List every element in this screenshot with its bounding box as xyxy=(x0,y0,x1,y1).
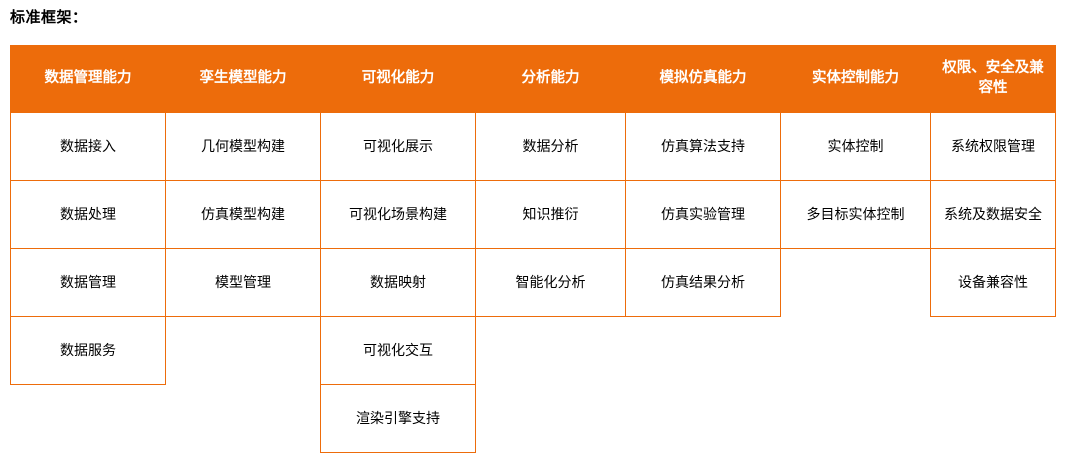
cell-simulation-3: 仿真结果分析 xyxy=(626,249,781,317)
column-header-simulation: 模拟仿真能力 xyxy=(626,46,781,113)
cell-data-management-5-empty xyxy=(11,385,166,453)
column-header-visualization: 可视化能力 xyxy=(321,46,476,113)
cell-analysis-4-empty xyxy=(476,317,626,385)
cell-simulation-1: 仿真算法支持 xyxy=(626,113,781,181)
cell-permission-security-4-empty xyxy=(931,317,1056,385)
cell-analysis-5-empty xyxy=(476,385,626,453)
cell-twin-model-2: 仿真模型构建 xyxy=(166,181,321,249)
column-header-data-management: 数据管理能力 xyxy=(11,46,166,113)
cell-twin-model-1: 几何模型构建 xyxy=(166,113,321,181)
cell-visualization-2: 可视化场景构建 xyxy=(321,181,476,249)
cell-data-management-4: 数据服务 xyxy=(11,317,166,385)
capability-matrix-table: 数据管理能力 孪生模型能力 可视化能力 分析能力 模拟仿真能力 实体控制能力 权… xyxy=(10,45,1056,453)
table-row: 渲染引擎支持 xyxy=(11,385,1056,453)
cell-data-management-1: 数据接入 xyxy=(11,113,166,181)
table-row: 数据管理 模型管理 数据映射 智能化分析 仿真结果分析 设备兼容性 xyxy=(11,249,1056,317)
cell-permission-security-2: 系统及数据安全 xyxy=(931,181,1056,249)
column-header-permission-security: 权限、安全及兼容性 xyxy=(931,46,1056,113)
cell-entity-control-5-empty xyxy=(781,385,931,453)
cell-permission-security-5-empty xyxy=(931,385,1056,453)
table-row: 数据接入 几何模型构建 可视化展示 数据分析 仿真算法支持 实体控制 系统权限管… xyxy=(11,113,1056,181)
cell-data-management-2: 数据处理 xyxy=(11,181,166,249)
column-header-entity-control: 实体控制能力 xyxy=(781,46,931,113)
cell-analysis-1: 数据分析 xyxy=(476,113,626,181)
cell-entity-control-3-empty xyxy=(781,249,931,317)
cell-analysis-3: 智能化分析 xyxy=(476,249,626,317)
cell-visualization-1: 可视化展示 xyxy=(321,113,476,181)
cell-twin-model-3: 模型管理 xyxy=(166,249,321,317)
cell-twin-model-4-empty xyxy=(166,317,321,385)
table-row: 数据处理 仿真模型构建 可视化场景构建 知识推衍 仿真实验管理 多目标实体控制 … xyxy=(11,181,1056,249)
page-title: 标准框架： xyxy=(10,6,88,27)
cell-visualization-4: 可视化交互 xyxy=(321,317,476,385)
column-header-twin-model: 孪生模型能力 xyxy=(166,46,321,113)
cell-entity-control-2: 多目标实体控制 xyxy=(781,181,931,249)
table-row: 数据服务 可视化交互 xyxy=(11,317,1056,385)
cell-simulation-2: 仿真实验管理 xyxy=(626,181,781,249)
cell-entity-control-1: 实体控制 xyxy=(781,113,931,181)
table-header-row: 数据管理能力 孪生模型能力 可视化能力 分析能力 模拟仿真能力 实体控制能力 权… xyxy=(11,46,1056,113)
cell-visualization-5: 渲染引擎支持 xyxy=(321,385,476,453)
cell-analysis-2: 知识推衍 xyxy=(476,181,626,249)
cell-permission-security-3: 设备兼容性 xyxy=(931,249,1056,317)
cell-twin-model-5-empty xyxy=(166,385,321,453)
cell-simulation-4-empty xyxy=(626,317,781,385)
cell-entity-control-4-empty xyxy=(781,317,931,385)
cell-permission-security-1: 系统权限管理 xyxy=(931,113,1056,181)
cell-simulation-5-empty xyxy=(626,385,781,453)
cell-visualization-3: 数据映射 xyxy=(321,249,476,317)
cell-data-management-3: 数据管理 xyxy=(11,249,166,317)
column-header-analysis: 分析能力 xyxy=(476,46,626,113)
